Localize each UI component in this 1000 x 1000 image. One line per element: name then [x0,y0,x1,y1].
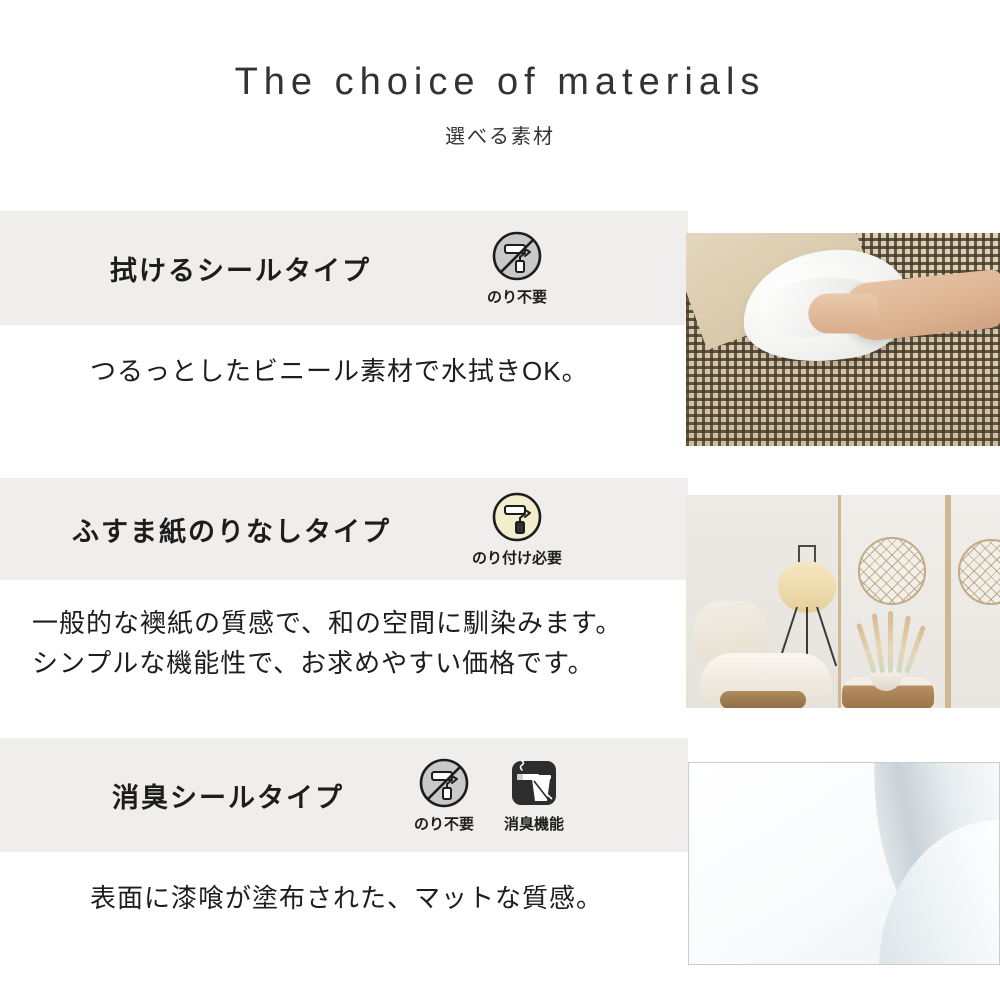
section-3-badges: のり不要 消臭機能 [406,757,572,834]
section-2-body: 一般的な襖紙の質感で、和の空間に馴染みます。 シンプルな機能性で、お求めやすい価… [32,603,682,684]
section-2-band: ふすま紙のりなしタイプ のり付け必要 [0,478,688,580]
lamp-leg-right [816,607,837,667]
page-header: The choice of materials 選べる素材 [0,0,1000,149]
material-section-3: 消臭シールタイプ のり不要 [0,738,1000,968]
section-3-title: 消臭シールタイプ [112,776,344,815]
page-subtitle: 選べる素材 [0,104,1000,149]
white-paper-curl-photo [688,762,1000,965]
badge-deodorize-label: 消臭機能 [504,813,564,834]
badge-no-glue: のり不要 [406,757,482,834]
badge-no-glue-label: のり不要 [487,286,547,307]
no-glue-roller-icon [491,230,543,282]
section-2-badges: のり付け必要 [479,491,555,568]
section-1-badges: のり不要 [479,230,555,307]
badge-no-glue: のり不要 [479,230,555,307]
wiping-cane-panel-photo [686,233,1000,446]
pampas-grass-3 [888,611,893,673]
japanese-interior-photo [686,495,1000,708]
material-section-2: ふすま紙のりなしタイプ のり付け必要 一般的な襖紙の質感で、和 [0,478,1000,698]
badge-glue-required: のり付け必要 [479,491,555,568]
materials-page: The choice of materials 選べる素材 拭けるシールタイプ [0,0,1000,1000]
armchair-leg [720,691,806,708]
paper-lantern-shade [778,561,836,613]
no-glue-roller-icon [418,757,470,809]
section-1-title: 拭けるシールタイプ [110,249,371,288]
badge-no-glue-label: のり不要 [414,813,474,834]
section-1-band: 拭けるシールタイプ のり不要 [0,211,688,325]
section-3-band: 消臭シールタイプ のり不要 [0,738,688,852]
badge-glue-required-label: のり付け必要 [472,547,562,568]
glue-roller-icon [491,491,543,543]
lattice-circle-center [858,537,926,605]
badge-deodorize: 消臭機能 [496,757,572,834]
section-3-body: 表面に漆喰が塗布された、マットな質感。 [90,878,660,918]
page-title: The choice of materials [0,0,1000,104]
material-section-1: 拭けるシールタイプ のり不要 つ [0,211,1000,435]
section-1-body: つるっとしたビニール素材で水拭きOK。 [90,351,660,391]
deodorize-icon [508,757,560,809]
section-2-title: ふすま紙のりなしタイプ [72,510,391,549]
